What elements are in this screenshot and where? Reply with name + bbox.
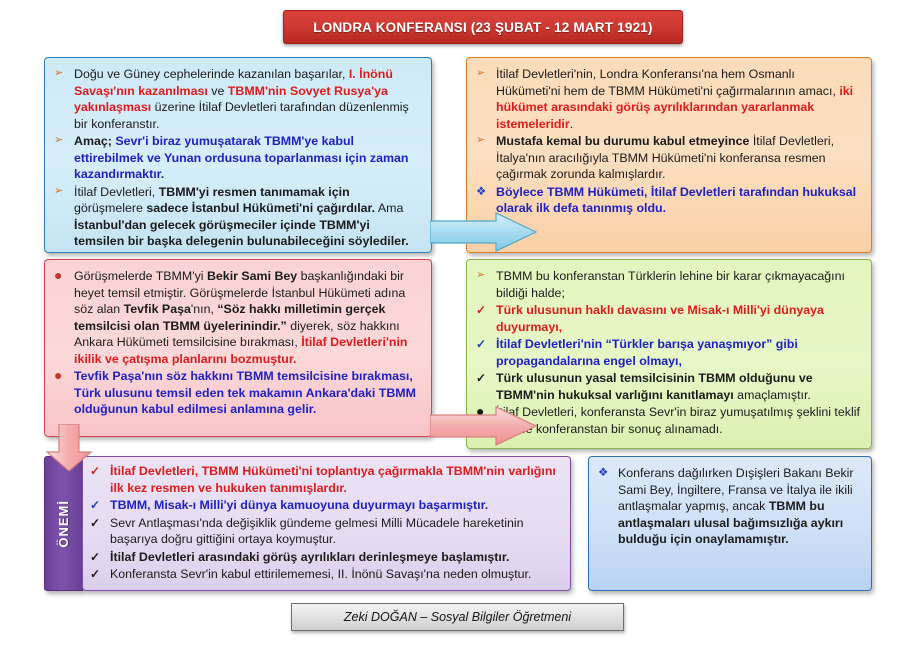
list-item: ●Görüşmelerde TBMM'yi Bekir Sami Bey baş… (53, 268, 421, 367)
list-item: ✓İtilaf Devletleri arasındaki görüş ayrı… (89, 549, 562, 566)
list-item: ➢İtilaf Devletleri, TBMM'yi resmen tanım… (53, 184, 421, 250)
list-item: ✓İtilaf Devletleri, TBMM Hükümeti'ni top… (89, 463, 562, 496)
list-item-text: Mustafa kemal bu durumu kabul etmeyince … (496, 134, 834, 181)
list-item-text: TBMM, Misak-ı Milli'yi dünya kamuoyuna d… (110, 498, 488, 512)
ikili-antlasmalar-list: ❖Konferans dağılırken Dışişleri Bakanı B… (597, 465, 861, 548)
diamond-bullet-icon: ❖ (476, 184, 492, 200)
check-bullet-black-icon: ✓ (90, 566, 106, 583)
footer-credit: Zeki DOĞAN – Sosyal Bilgiler Öğretmeni (291, 603, 624, 631)
check-bullet-black-icon: ✓ (476, 370, 492, 387)
check-bullet-red-icon: ✓ (476, 302, 492, 319)
list-item: ❖Konferans dağılırken Dışişleri Bakanı B… (597, 465, 861, 548)
check-bullet-black-icon: ✓ (90, 549, 106, 566)
diamond-bullet-black-icon: ❖ (598, 465, 614, 481)
sebepler-box: ➢Doğu ve Güney cephelerinde kazanılan ba… (44, 57, 432, 253)
list-item: ✓Türk ulusunun haklı davasını ve Misak-ı… (475, 302, 861, 335)
dot-bullet-red-icon: ● (54, 368, 70, 384)
dot-bullet-red-icon: ● (54, 268, 70, 284)
list-item: ✓İtilaf Devletleri'nin “Türkler barışa y… (475, 336, 861, 369)
list-item-text: Tevfik Paşa'nın söz hakkını TBMM temsilc… (74, 369, 416, 416)
onemi-list: ✓İtilaf Devletleri, TBMM Hükümeti'ni top… (89, 463, 562, 583)
arrow-bullet-icon: ➢ (476, 268, 492, 284)
onemi-box: ✓İtilaf Devletleri, TBMM Hükümeti'ni top… (82, 456, 571, 591)
check-bullet-black-icon: ✓ (90, 515, 106, 532)
list-item-text: Amaç; Sevr'i biraz yumuşatarak TBMM'ye k… (74, 134, 408, 181)
sebepler-list: ➢Doğu ve Güney cephelerinde kazanılan ba… (53, 66, 421, 250)
list-item: ➢İtilaf Devletleri'nin, Londra Konferans… (475, 66, 861, 132)
ikili-antlasmalar-box: ❖Konferans dağılırken Dışişleri Bakanı B… (588, 456, 872, 591)
list-item-text: TBMM bu konferanstan Türklerin lehine bi… (496, 269, 845, 300)
list-item: ➢Doğu ve Güney cephelerinde kazanılan ba… (53, 66, 421, 132)
arrow-right-blue-icon (430, 212, 538, 252)
list-item-text: Böylece TBMM Hükümeti, İtilaf Devletleri… (496, 185, 856, 216)
list-item-text: Doğu ve Güney cephelerinde kazanılan baş… (74, 67, 409, 131)
check-bullet-blue-icon: ✓ (90, 497, 106, 514)
gorusmeler-box: ●Görüşmelerde TBMM'yi Bekir Sami Bey baş… (44, 259, 432, 437)
list-item-text: Sevr Antlaşması'nda değişiklik gündeme g… (110, 516, 524, 547)
list-item-text: Konferans dağılırken Dışişleri Bakanı Be… (618, 466, 854, 546)
check-bullet-blue-icon: ✓ (476, 336, 492, 353)
list-item-text: İtilaf Devletleri'nin, Londra Konferansı… (496, 67, 853, 131)
page-title: LONDRA KONFERANSI (23 ŞUBAT - 12 MART 19… (283, 10, 683, 44)
list-item: ●Tevfik Paşa'nın söz hakkını TBMM temsil… (53, 368, 421, 418)
gorusmeler-list: ●Görüşmelerde TBMM'yi Bekir Sami Bey baş… (53, 268, 421, 418)
list-item-text: İtilaf Devletleri arasındaki görüş ayrıl… (110, 550, 509, 564)
arrow-bullet-icon: ➢ (54, 66, 70, 82)
onemi-tab-label: ÖNEMİ (56, 500, 71, 548)
list-item: ✓Konferansta Sevr'in kabul ettirilememes… (89, 566, 562, 583)
list-item-text: Türk ulusunun haklı davasını ve Misak-ı … (496, 303, 824, 334)
arrow-right-pink-icon (430, 406, 538, 446)
list-item: ✓Sevr Antlaşması'nda değişiklik gündeme … (89, 515, 562, 548)
list-item-text: İtilaf Devletleri, konferansta Sevr'in b… (496, 405, 860, 436)
amac-tanima-list: ➢İtilaf Devletleri'nin, Londra Konferans… (475, 66, 861, 217)
list-item-text: Türk ulusunun yasal temsilcisinin TBMM o… (496, 371, 813, 402)
list-item-text: İtilaf Devletleri, TBMM'yi resmen tanıma… (74, 185, 409, 249)
arrow-bullet-icon: ➢ (476, 66, 492, 82)
list-item-text: Konferansta Sevr'in kabul ettirilememesi… (110, 567, 531, 581)
infographic-page: LONDRA KONFERANSI (23 ŞUBAT - 12 MART 19… (0, 0, 915, 645)
arrow-bullet-icon: ➢ (476, 133, 492, 149)
arrow-bullet-icon: ➢ (54, 133, 70, 149)
arrow-down-pink-icon (46, 424, 94, 472)
arrow-bullet-icon: ➢ (54, 184, 70, 200)
list-item-text: Görüşmelerde TBMM'yi Bekir Sami Bey başk… (74, 269, 407, 366)
list-item: ✓TBMM, Misak-ı Milli'yi dünya kamuoyuna … (89, 497, 562, 514)
list-item: ➢Mustafa kemal bu durumu kabul etmeyince… (475, 133, 861, 183)
list-item-text: İtilaf Devletleri'nin “Türkler barışa ya… (496, 337, 798, 368)
list-item-text: İtilaf Devletleri, TBMM Hükümeti'ni topl… (110, 464, 556, 495)
onemi-tab: ÖNEMİ (44, 456, 83, 591)
list-item: ✓Türk ulusunun yasal temsilcisinin TBMM … (475, 370, 861, 403)
list-item: ➢Amaç; Sevr'i biraz yumuşatarak TBMM'ye … (53, 133, 421, 183)
list-item: ➢TBMM bu konferanstan Türklerin lehine b… (475, 268, 861, 301)
